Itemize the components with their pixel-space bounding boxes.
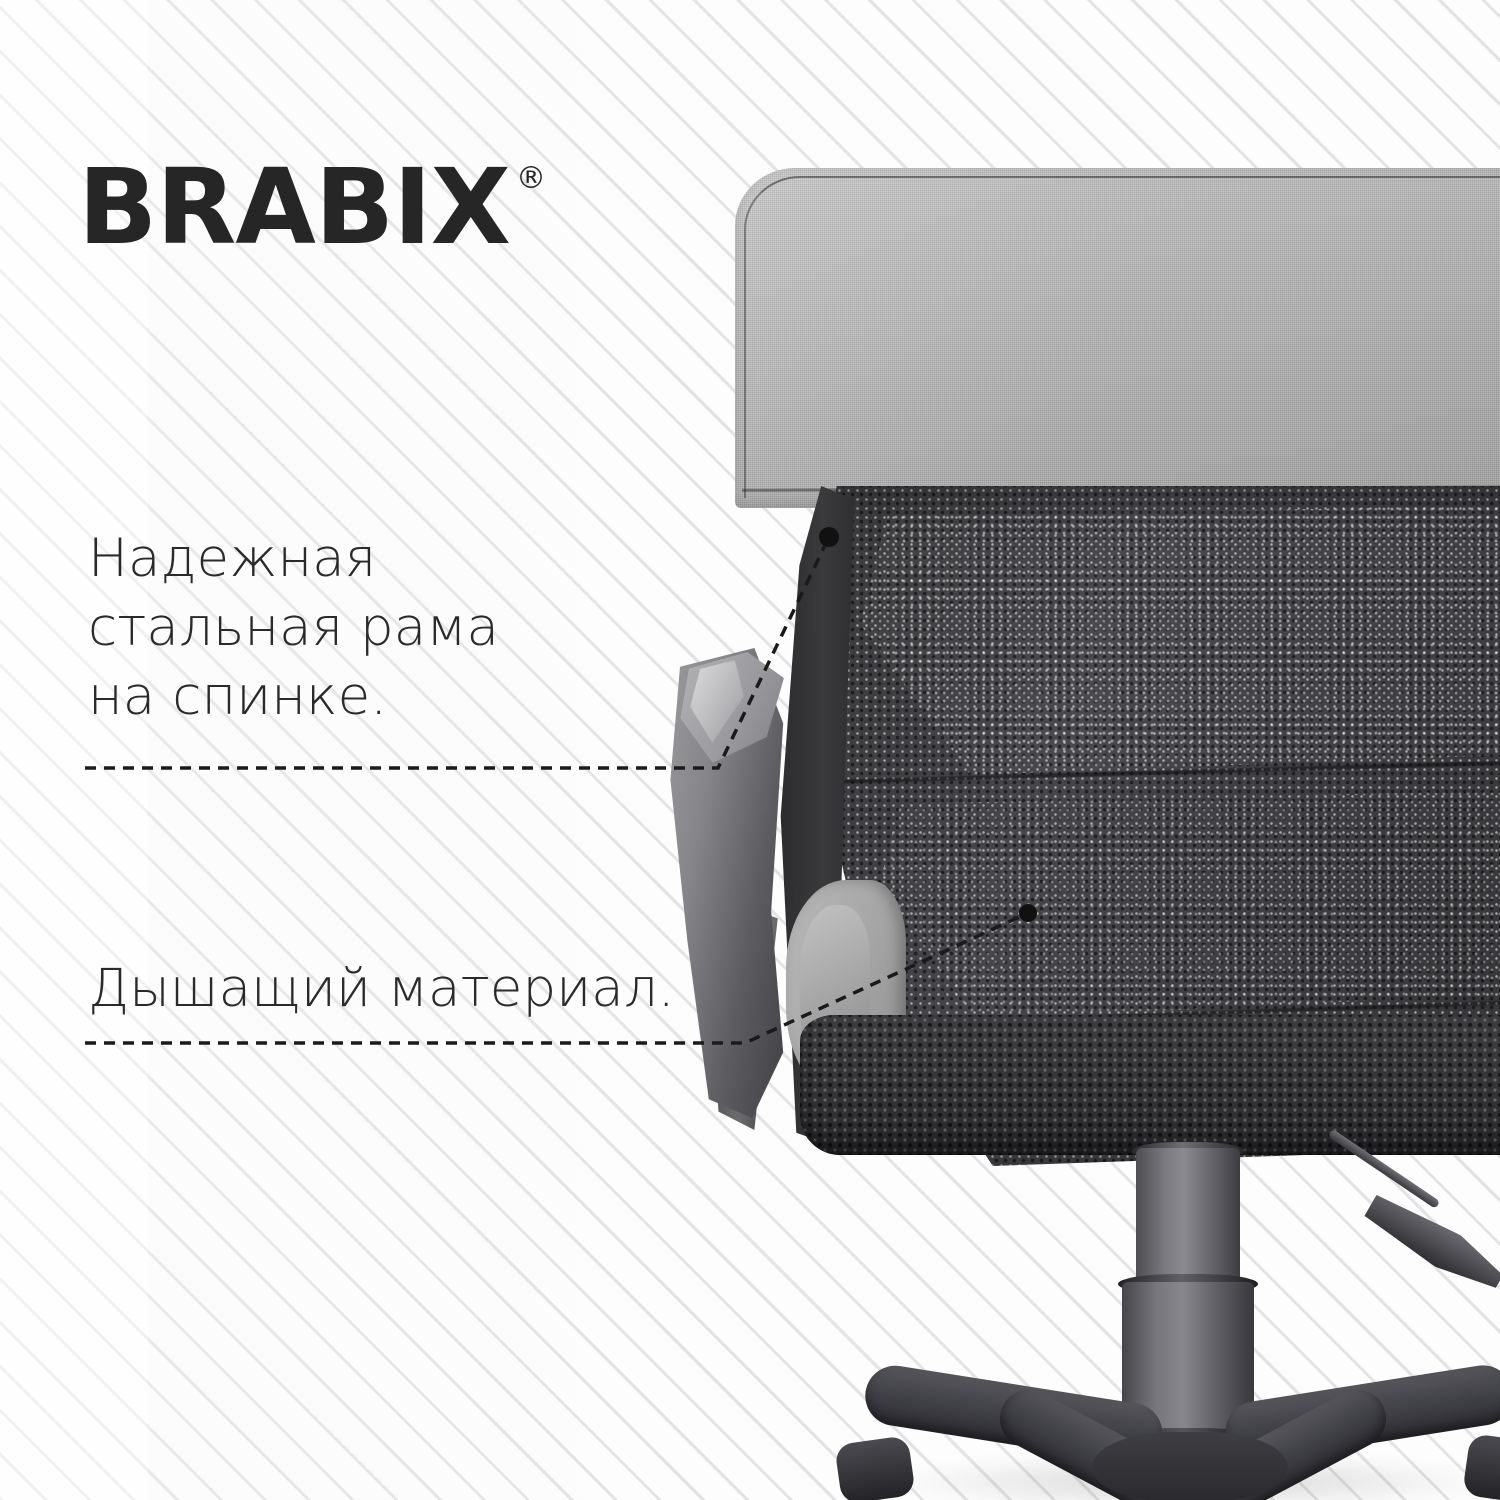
callout-breathable-material: Дышащий материал.	[88, 955, 675, 1024]
callout-steel-frame-line-3: на спинке.	[88, 663, 499, 732]
base-hub	[1092, 1432, 1288, 1500]
headrest-stitch-line	[744, 176, 1500, 498]
gas-cylinder-upper	[1136, 1148, 1240, 1288]
brabix-logo: BRABIX ®	[78, 158, 546, 258]
callout-breathable-material-line-1: Дышащий материал.	[88, 955, 675, 1024]
caster-left	[834, 1435, 916, 1500]
callout-steel-frame-line-2: стальная рама	[88, 594, 499, 663]
product-banner: BRABIX ® Надежная стальная рама на спинк…	[0, 0, 1500, 1500]
callout-steel-frame-line-1: Надежная	[88, 525, 499, 594]
callout-steel-frame: Надежная стальная рама на спинке.	[88, 525, 499, 732]
seat-cushion	[800, 1015, 1500, 1155]
brabix-wordmark: BRABIX	[78, 158, 510, 258]
caster-right	[1462, 1433, 1500, 1500]
mesh-highlight-lower	[880, 790, 1500, 1020]
mesh-highlight-upper	[860, 505, 1500, 775]
registered-trademark-icon: ®	[516, 164, 546, 194]
